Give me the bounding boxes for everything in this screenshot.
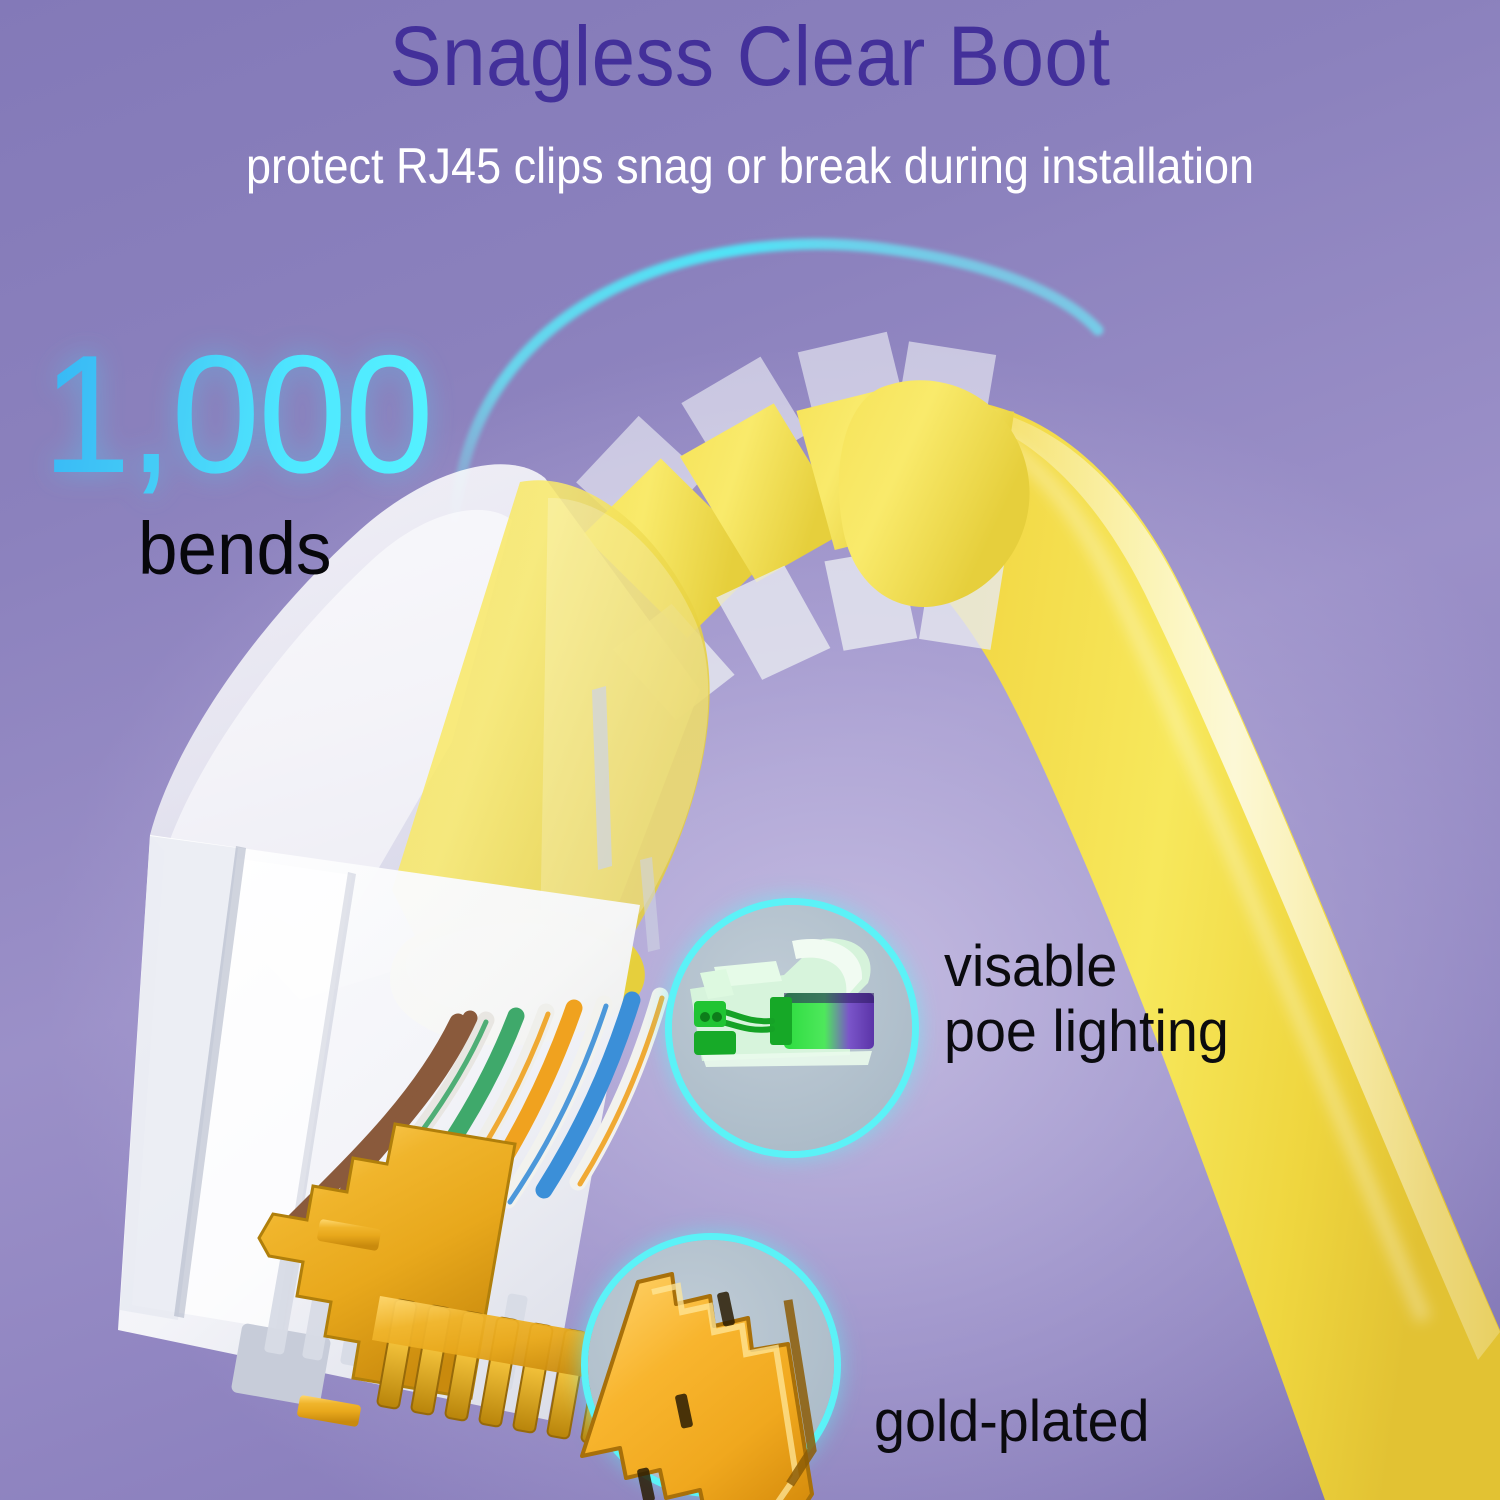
bend-count-value: 1,000 [42, 330, 451, 498]
badge-caption: visable poe lighting [944, 935, 1229, 1065]
badge-caption-line2: poe lighting [944, 999, 1229, 1064]
glowing-rj45-connector-icon [672, 905, 912, 1151]
page-title: Snagless Clear Boot [53, 14, 1448, 100]
badge-ring [672, 905, 912, 1151]
badge-caption-line1: gold-plated [874, 1389, 1150, 1454]
bend-count-label: bends [138, 512, 459, 586]
bend-count-stat: 1,000 bends [42, 330, 472, 586]
product-feature-image: Snagless Clear Boot protect RJ45 clips s… [0, 0, 1500, 1500]
badge-caption: gold-plated [874, 1390, 1150, 1455]
badge-caption-line1: visable [944, 934, 1117, 999]
page-subtitle: protect RJ45 clips snag or break during … [75, 140, 1425, 193]
gold-contact-pin-icon [566, 1236, 866, 1500]
